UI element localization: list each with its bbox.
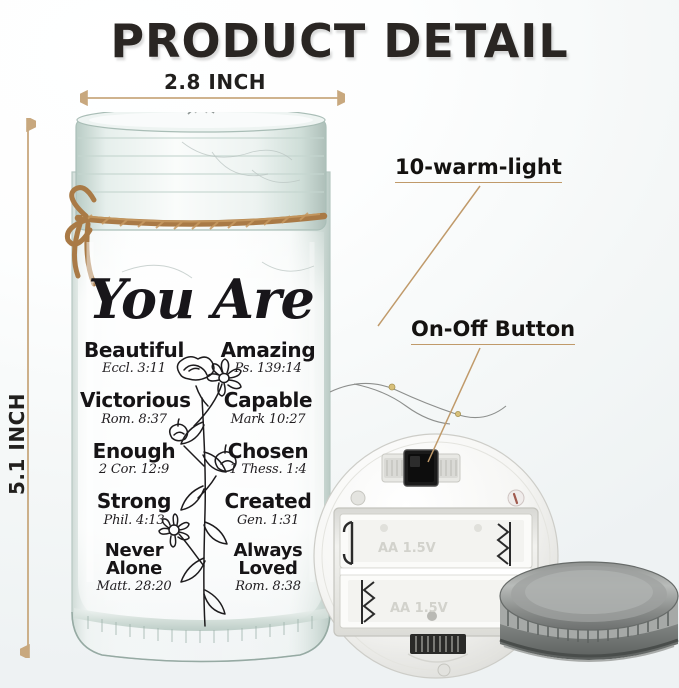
attribute-word: Never Alone bbox=[80, 542, 188, 579]
attribute-reference: Mark 10:27 bbox=[214, 412, 322, 427]
callout-warm-light: 10-warm-light bbox=[395, 155, 562, 183]
jar-headline: You Are bbox=[62, 267, 340, 331]
jar-left-column: Beautiful Eccl. 3:11 Victorious Rom. 8:3… bbox=[80, 340, 188, 594]
width-dimension-arrow bbox=[80, 90, 345, 106]
attribute-item: Created Gen. 1:31 bbox=[214, 491, 322, 527]
attribute-word: Amazing bbox=[214, 340, 322, 360]
attribute-word: Capable bbox=[214, 390, 322, 410]
height-dimension-arrow bbox=[20, 118, 36, 658]
product-detail-image: PRODUCT DETAIL 2.8 INCH 5.1 INCH bbox=[0, 0, 679, 688]
attribute-item: Chosen 1 Thess. 1:4 bbox=[214, 441, 322, 477]
attribute-reference: 2 Cor. 12:9 bbox=[80, 462, 188, 477]
attribute-reference: 1 Thess. 1:4 bbox=[214, 462, 322, 477]
page-title: PRODUCT DETAIL bbox=[0, 14, 679, 68]
attribute-item: Never Alone Matt. 28:20 bbox=[80, 542, 188, 595]
attribute-item: Victorious Rom. 8:37 bbox=[80, 390, 188, 426]
attribute-reference: Rom. 8:37 bbox=[80, 412, 188, 427]
attribute-word: Always Loved bbox=[214, 542, 322, 579]
attribute-reference: Eccl. 3:11 bbox=[80, 361, 188, 376]
jar-right-column: Amazing Ps. 139:14 Capable Mark 10:27 Ch… bbox=[214, 340, 322, 594]
callout-on-off-button: On-Off Button bbox=[411, 317, 575, 345]
attribute-item: Capable Mark 10:27 bbox=[214, 390, 322, 426]
attribute-word: Victorious bbox=[80, 390, 188, 410]
mason-jar-lid bbox=[496, 548, 679, 680]
attribute-reference: Matt. 28:20 bbox=[80, 579, 188, 594]
attribute-word: Enough bbox=[80, 441, 188, 461]
attribute-reference: Gen. 1:31 bbox=[214, 513, 322, 528]
attribute-reference: Ps. 139:14 bbox=[214, 361, 322, 376]
jar-label-text: You Are bbox=[62, 112, 340, 664]
attribute-word: Strong bbox=[80, 491, 188, 511]
attribute-reference: Phil. 4:13 bbox=[80, 513, 188, 528]
attribute-item: Amazing Ps. 139:14 bbox=[214, 340, 322, 376]
attribute-item: Enough 2 Cor. 12:9 bbox=[80, 441, 188, 477]
attribute-word: Created bbox=[214, 491, 322, 511]
attribute-item: Beautiful Eccl. 3:11 bbox=[80, 340, 188, 376]
attribute-item: Always Loved Rom. 8:38 bbox=[214, 542, 322, 595]
attribute-item: Strong Phil. 4:13 bbox=[80, 491, 188, 527]
attribute-word: Chosen bbox=[214, 441, 322, 461]
attribute-word: Beautiful bbox=[80, 340, 188, 360]
attribute-reference: Rom. 8:38 bbox=[214, 579, 322, 594]
svg-text:AA 1.5V: AA 1.5V bbox=[390, 601, 448, 616]
svg-text:AA 1.5V: AA 1.5V bbox=[378, 541, 436, 556]
